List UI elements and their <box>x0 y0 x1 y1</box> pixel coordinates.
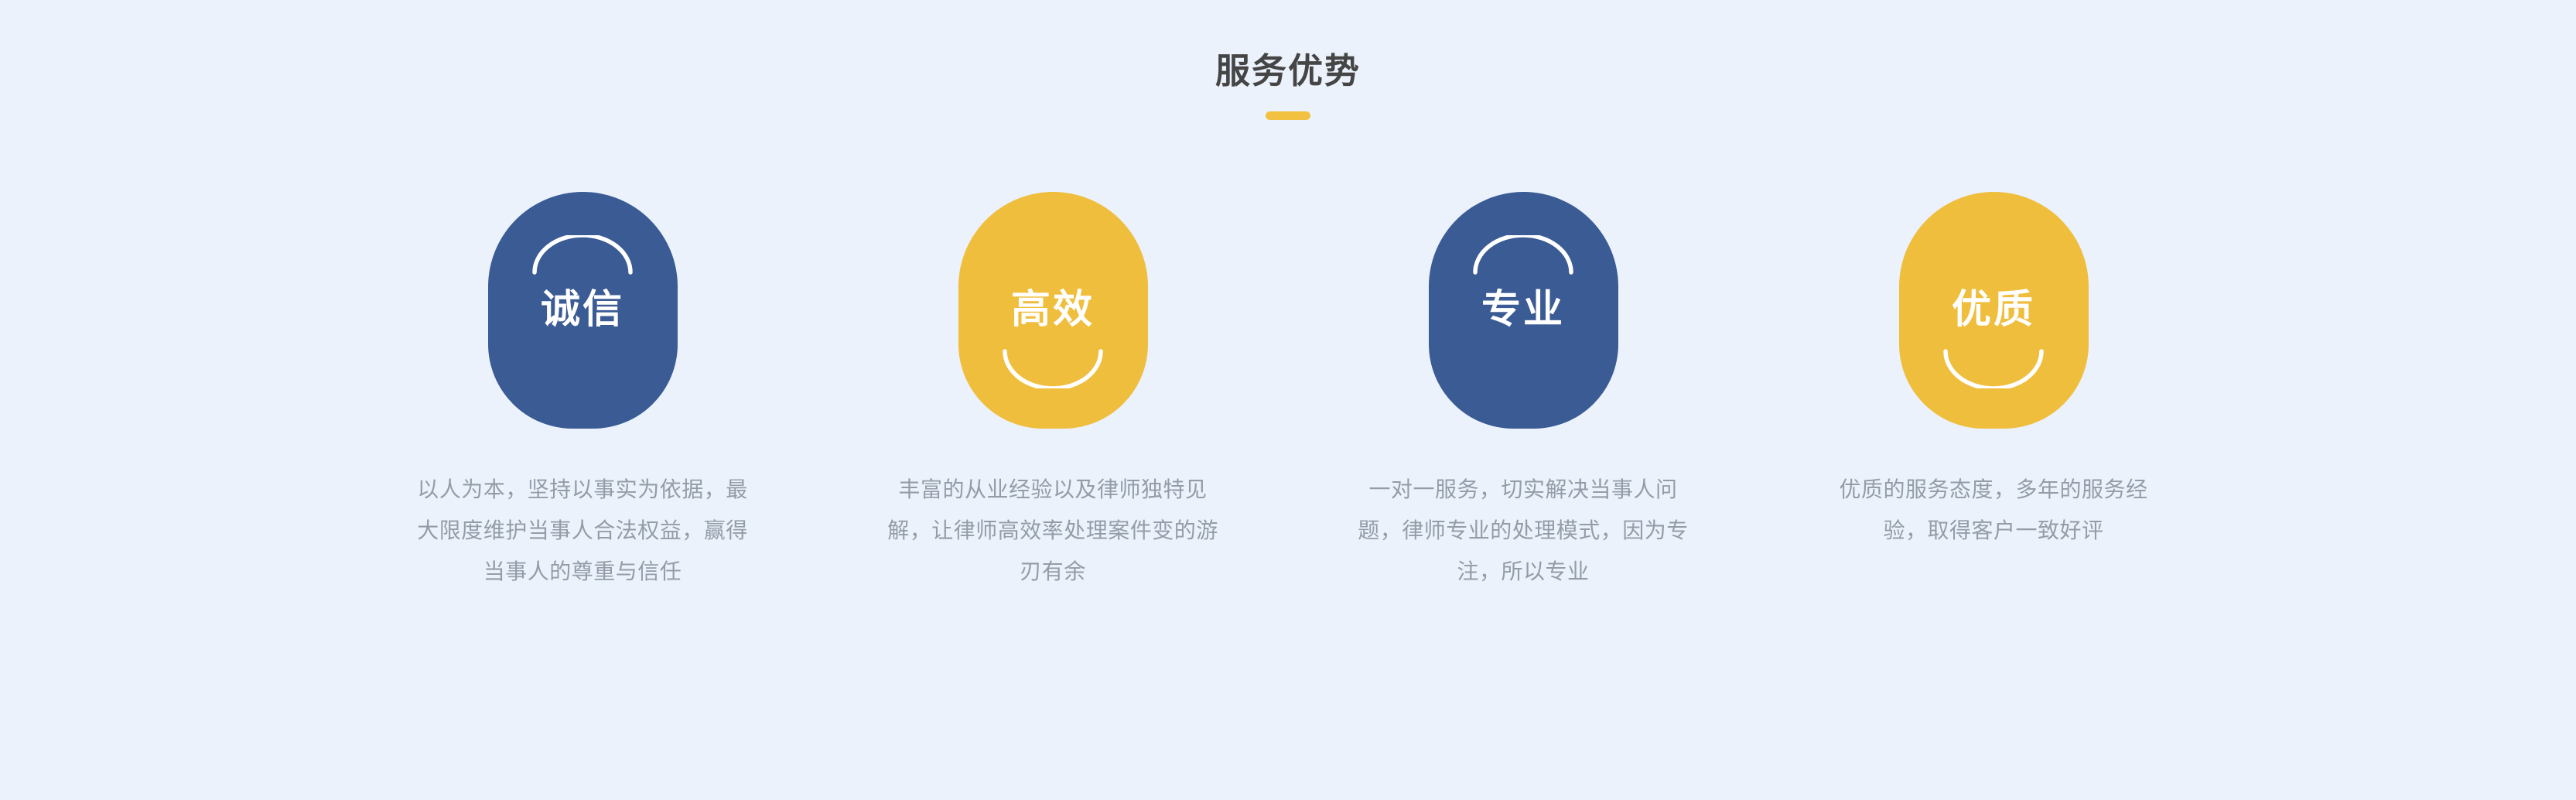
advantage-badge-label: 诚信 <box>541 288 624 333</box>
advantage-card-list: 诚信 以人为本，坚持以事实为依据，最大限度维护当事人合法权益，赢得当事人的尊重与… <box>0 192 2576 592</box>
advantage-badge-label: 优质 <box>1952 288 2035 333</box>
advantage-description: 以人为本，坚持以事实为依据，最大限度维护当事人合法权益，赢得当事人的尊重与信任 <box>415 469 750 592</box>
page-title: 服务优势 <box>0 48 2576 94</box>
service-advantages-section: 服务优势 诚信 以人为本，坚持以事实为依据，最大限度维护当事人合法权益，赢得当事… <box>0 0 2576 800</box>
arc-dome-icon <box>1471 235 1576 275</box>
advantage-badge-zhuanye[interactable]: 专业 <box>1429 192 1618 429</box>
section-heading: 服务优势 <box>0 48 2576 120</box>
advantage-description: 丰富的从业经验以及律师独特见解，让律师高效率处理案件变的游刃有余 <box>886 469 1220 592</box>
advantage-description: 优质的服务态度，多年的服务经验，取得客户一致好评 <box>1826 469 2161 551</box>
advantage-card: 高效 丰富的从业经验以及律师独特见解，让律师高效率处理案件变的游刃有余 <box>818 192 1288 592</box>
title-underline-accent <box>1266 111 1310 120</box>
advantage-badge-chengxin[interactable]: 诚信 <box>488 192 678 429</box>
advantage-badge-label: 高效 <box>1011 288 1095 333</box>
arc-smile-icon <box>1941 348 2046 388</box>
advantage-description: 一对一服务，切实解决当事人问题，律师专业的处理模式，因为专注，所以专业 <box>1356 469 1690 592</box>
advantage-badge-youzhi[interactable]: 优质 <box>1899 192 2089 429</box>
advantage-badge-gaoxiao[interactable]: 高效 <box>958 192 1148 429</box>
arc-smile-icon <box>1000 348 1105 388</box>
arc-dome-icon <box>530 235 635 275</box>
advantage-card: 诚信 以人为本，坚持以事实为依据，最大限度维护当事人合法权益，赢得当事人的尊重与… <box>347 192 818 592</box>
advantage-badge-label: 专业 <box>1481 288 1565 333</box>
advantage-card: 优质 优质的服务态度，多年的服务经验，取得客户一致好评 <box>1758 192 2229 551</box>
advantage-card: 专业 一对一服务，切实解决当事人问题，律师专业的处理模式，因为专注，所以专业 <box>1288 192 1758 592</box>
